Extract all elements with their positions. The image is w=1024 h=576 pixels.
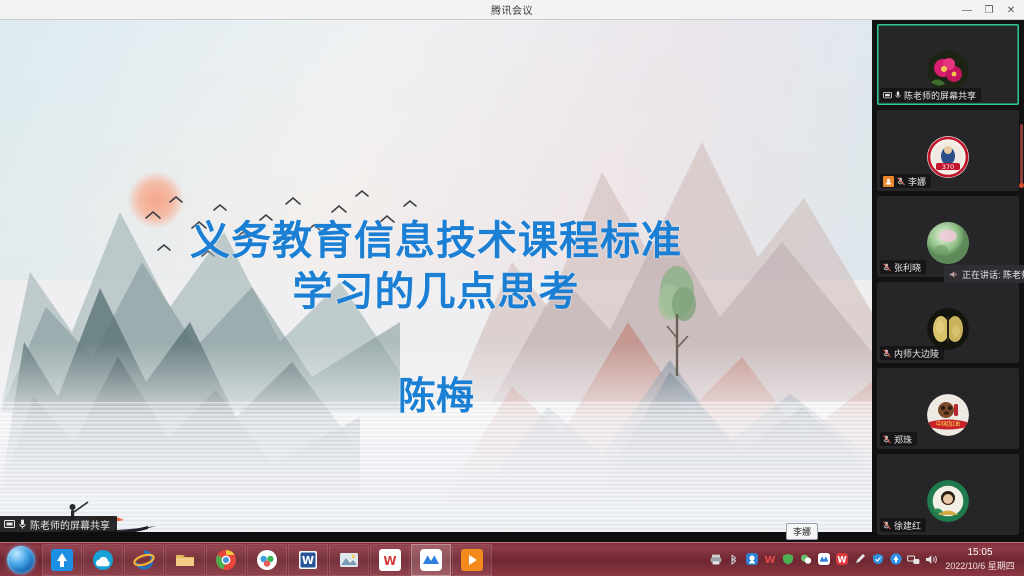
slide-text-block: 义务教育信息技术课程标准 学习的几点思考 陈梅 <box>0 20 872 532</box>
taskbar-item-internet-explorer-icon[interactable] <box>124 544 164 576</box>
clock-date: 2022/10/6 星期四 <box>945 559 1015 572</box>
speaking-toast: 正在讲话: 陈老师 <box>944 265 1024 283</box>
screen-share-icon <box>883 92 892 99</box>
svg-text:W: W <box>837 555 846 565</box>
clock-time: 15:05 <box>967 547 992 558</box>
participant-name: 陈老师的屏幕共享 <box>904 89 976 102</box>
window-titlebar: 腾讯会议 — ❐ ✕ <box>0 0 1024 20</box>
red-alert-icon[interactable]: W <box>835 553 848 566</box>
meeting-blue-icon[interactable] <box>817 553 830 566</box>
speaker-icon <box>949 270 958 279</box>
participant-name: 李娜 <box>908 175 926 188</box>
wechat-icon[interactable] <box>799 553 812 566</box>
system-tray[interactable]: W W <box>709 542 938 576</box>
avatar <box>927 50 969 92</box>
wps-cloud-icon[interactable]: W <box>763 553 776 566</box>
rail-scrollbar[interactable] <box>1020 124 1023 186</box>
svg-text:W: W <box>383 554 396 568</box>
microphone-icon <box>19 519 26 529</box>
shield-green-icon[interactable] <box>781 553 794 566</box>
participant-name-chip: 徐建红 <box>880 518 926 532</box>
qq-blue-icon[interactable] <box>889 553 902 566</box>
participant-name-chip: 郑珠 <box>880 432 917 446</box>
slide-author: 陈梅 <box>0 365 872 420</box>
participant-name-chip: 内师大边陵 <box>880 346 944 360</box>
taskbar-clock[interactable]: 15:05 2022/10/6 星期四 <box>940 542 1020 576</box>
participant-name: 张利晓 <box>894 261 921 274</box>
slide-title-line-2: 学习的几点思考 <box>0 267 872 318</box>
taskbar-item-folder-explorer-icon[interactable] <box>165 544 205 576</box>
taskbar-item-weather-cloud-icon[interactable] <box>83 544 123 576</box>
mic-muted-icon <box>883 349 891 358</box>
slide-title: 义务教育信息技术课程标准 学习的几点思考 <box>0 216 872 318</box>
avatar <box>927 308 969 350</box>
slide-title-line-1: 义务教育信息技术课程标准 <box>0 216 872 267</box>
security-shield-icon[interactable] <box>871 553 884 566</box>
mic-muted-icon <box>897 177 905 186</box>
mic-muted-icon <box>883 521 891 530</box>
app-title: 腾讯会议 <box>491 2 533 17</box>
taskbar-item-media-player-icon[interactable] <box>452 544 492 576</box>
printer-icon[interactable] <box>709 553 722 566</box>
windows-taskbar[interactable]: W W <box>0 542 1024 576</box>
speaking-toast-text: 正在讲话: 陈老师 <box>962 268 1024 281</box>
svg-text:中国加油: 中国加油 <box>936 420 960 428</box>
participant-tile[interactable]: 中国加油 郑珠 <box>877 368 1019 449</box>
screen-share-label: 陈老师的屏幕共享 <box>30 517 110 532</box>
taskbar-item-photo-viewer-icon[interactable] <box>329 544 369 576</box>
shared-screen-stage[interactable]: 义务教育信息技术课程标准 学习的几点思考 陈梅 陈老师的屏幕共享 <box>0 20 872 532</box>
windows-start-orb[interactable] <box>0 544 42 576</box>
avatar <box>927 480 969 522</box>
mic-muted-icon <box>883 435 891 444</box>
participant-name: 内师大边陵 <box>894 347 939 360</box>
minimize-button[interactable]: — <box>956 0 978 20</box>
screen-share-status-bar: 陈老师的屏幕共享 <box>0 516 117 532</box>
participant-name: 郑珠 <box>894 433 912 446</box>
svg-text:W: W <box>764 555 775 565</box>
network-icon[interactable] <box>907 553 920 566</box>
participant-name-chip: 陈老师的屏幕共享 <box>880 88 981 102</box>
svg-text:W: W <box>302 554 314 567</box>
participant-tile[interactable]: 内师大边陵 <box>877 282 1019 363</box>
avatar <box>927 222 969 264</box>
taskbar-item-microsoft-word-icon[interactable]: W <box>288 544 328 576</box>
host-badge-icon <box>883 176 894 187</box>
svg-text:370: 370 <box>942 163 954 171</box>
volume-icon[interactable] <box>925 553 938 566</box>
taskbar-item-google-chrome-icon[interactable] <box>206 544 246 576</box>
window-controls: — ❐ ✕ <box>956 0 1022 20</box>
avatar: 370 <box>927 136 969 178</box>
participant-name-chip: 李娜 <box>880 174 931 188</box>
screen-share-icon <box>4 520 15 529</box>
taskbar-item-tencent-qq-icon[interactable] <box>42 544 82 576</box>
mic-muted-icon <box>883 263 891 272</box>
taskbar-item-360-browser-icon[interactable] <box>247 544 287 576</box>
taskbar-items[interactable]: W W <box>42 544 492 576</box>
pen-tool-icon[interactable] <box>853 553 866 566</box>
sogou-input-icon[interactable] <box>745 553 758 566</box>
participant-name-chip: 张利晓 <box>880 260 926 274</box>
participant-tile[interactable]: 徐建红 <box>877 454 1019 535</box>
participant-name: 徐建红 <box>894 519 921 532</box>
close-button[interactable]: ✕ <box>1000 0 1022 20</box>
participant-tile[interactable]: 陈老师的屏幕共享 <box>877 24 1019 105</box>
maximize-button[interactable]: ❐ <box>978 0 1000 20</box>
meeting-window: 腾讯会议 — ❐ ✕ <box>0 0 1024 576</box>
bluetooth-icon[interactable] <box>727 553 740 566</box>
taskbar-item-tencent-meeting-icon[interactable] <box>411 544 451 576</box>
participant-tile[interactable]: 370 李娜 <box>877 110 1019 191</box>
taskbar-item-wps-office-icon[interactable]: W <box>370 544 410 576</box>
rail-scroll-indicator <box>1019 183 1024 188</box>
taskbar-tooltip: 李娜 <box>786 523 818 540</box>
microphone-icon <box>895 91 901 99</box>
avatar: 中国加油 <box>927 394 969 436</box>
